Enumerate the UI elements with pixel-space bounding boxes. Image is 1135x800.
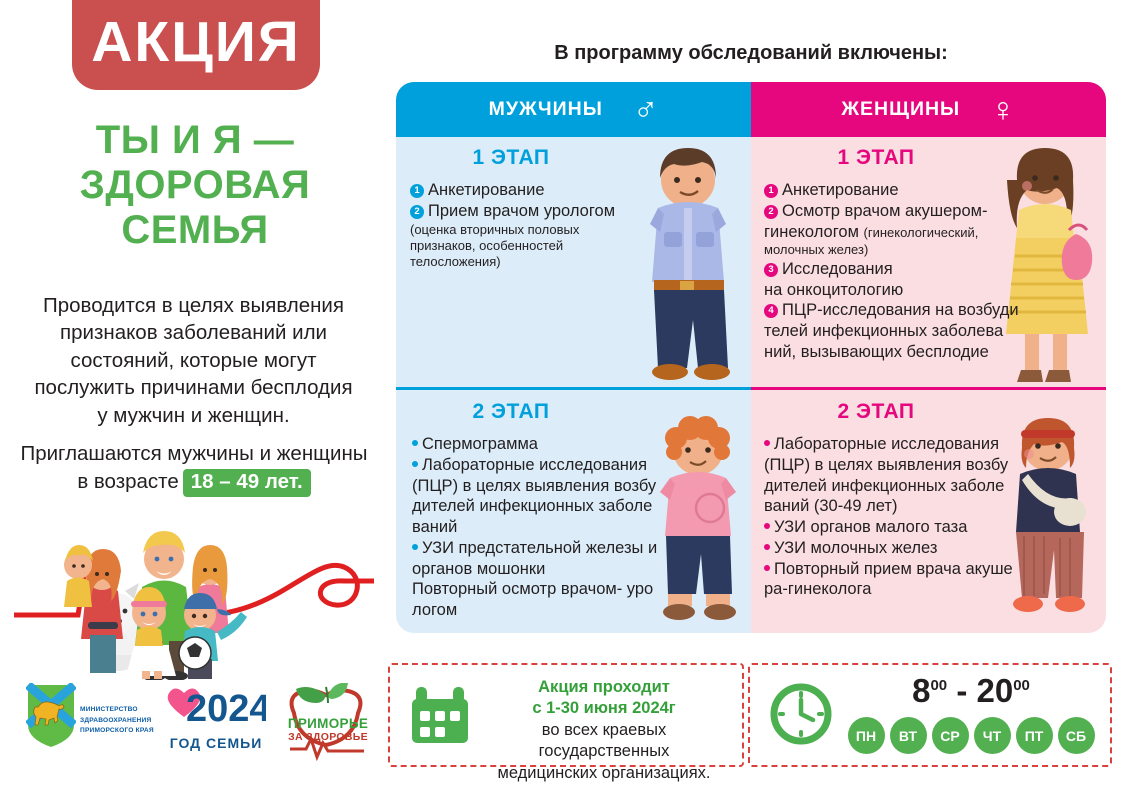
women-stage2-bullet-1: [764, 440, 770, 446]
woman-illustration: [991, 138, 1103, 388]
women-stage2-item-4: Повторный прием врача акуше: [764, 559, 1009, 580]
men-stage2-text-2c: дителей инфекционных заболе: [412, 496, 652, 517]
page-title-line-1: ТЫ И Я —: [10, 118, 380, 163]
women-stage2-bullet-3: [764, 544, 770, 550]
logo-row: МИНИСТЕРСТВО ЗДРАВООХРАНЕНИЯ ПРИМОРСКОГО…: [26, 683, 376, 765]
woman-stage2-illustration: [998, 408, 1102, 630]
year-of-family-logo: 2024 ГОД СЕМЬИ: [166, 683, 266, 765]
women-stage2-bullet-2: [764, 523, 770, 529]
women-stage1-cont-text: гинекологом: [764, 223, 859, 241]
female-symbol-icon: ♀: [990, 93, 1016, 127]
women-stage2-text-4a: Повторный прием врача акуше: [774, 560, 1013, 578]
boy-illustration: [648, 412, 752, 630]
women-stage1-item-2: 2Осмотр врачом акушером-: [764, 201, 1004, 222]
campaign-period-line-4: медицинских организациях.: [478, 763, 730, 784]
poster-root: АКЦИЯ ТЫ И Я — ЗДОРОВАЯ СЕМЬЯ Проводится…: [0, 0, 1135, 800]
men-stage2-bullet-1: [412, 440, 418, 446]
men-stage2-list: Спермограмма Лабораторные исследования (…: [412, 434, 652, 621]
women-header: ЖЕНЩИНЫ ♀: [751, 82, 1106, 137]
women-stage1-marker-4: 4: [764, 304, 778, 318]
day-badge-tue: ВТ: [890, 717, 927, 754]
women-stage1-item-3: 3Исследования: [764, 259, 1004, 280]
campaign-period-line-1: Акция проходит: [478, 677, 730, 698]
minzdrav-logo-text: МИНИСТЕРСТВО ЗДРАВООХРАНЕНИЯ ПРИМОРСКОГО…: [80, 705, 164, 737]
women-header-label: ЖЕНЩИНЫ: [841, 98, 960, 121]
women-stage2-list: Лабораторные исследования (ПЦР) в целях …: [764, 434, 1009, 600]
women-stage1-text-3a: Исследования: [782, 260, 893, 278]
men-stage1-note-1: (оценка вторичных половых: [410, 222, 640, 238]
men-header: МУЖЧИНЫ ♂: [396, 82, 751, 137]
invite-prefix: в возрасте: [77, 470, 178, 493]
close-hour: 20: [976, 672, 1013, 709]
women-stage1-text-4b: телей инфекционных заболева: [764, 321, 1004, 342]
men-stage1-text-2: Прием врачом урологом: [428, 202, 615, 220]
women-stage1-item-4: 4ПЦР-исследования на возбуди: [764, 300, 1004, 321]
women-stage2-text-1b: (ПЦР) в целях выявления возбу: [764, 455, 1009, 476]
men-stage2-text-4b: логом: [412, 600, 652, 621]
working-hours-range: 800 - 2000: [846, 673, 1096, 709]
women-stage1-text-4c: ний, вызывающих бесплодие: [764, 342, 1004, 363]
men-stage1-marker-1: 1: [410, 184, 424, 198]
men-stage1-note-2: признаков, особенностей: [410, 238, 640, 254]
day-badge-fri: ПТ: [1016, 717, 1053, 754]
year-caption: ГОД СЕМЬИ: [166, 735, 266, 751]
women-stage1-list: 1Анкетирование 2Осмотр врачом акушером- …: [764, 180, 1004, 363]
lead-line-4: послужить причинами бесплодия: [16, 374, 371, 401]
page-title: ТЫ И Я — ЗДОРОВАЯ СЕМЬЯ: [10, 118, 380, 252]
men-stage1-title: 1 ЭТАП: [396, 146, 626, 170]
men-header-label: МУЖЧИНЫ: [489, 98, 603, 121]
men-stage1-marker-2: 2: [410, 205, 424, 219]
lead-paragraph: Проводится в целях выявления признаков з…: [16, 292, 371, 429]
women-stage2-text-3: УЗИ молочных желез: [774, 539, 937, 557]
women-stage1-marker-2: 2: [764, 205, 778, 219]
women-stage1-cont-line: гинекологом (гинекологический,: [764, 222, 1004, 243]
men-stage2-text-4a: Повторный осмотр врачом- уро: [412, 579, 652, 600]
men-stage2-bullet-2: [412, 461, 418, 467]
minzdrav-line-2: ЗДРАВООХРАНЕНИЯ: [80, 716, 164, 727]
women-stage1-marker-3: 3: [764, 263, 778, 277]
panel-caption: В программу обследований включены:: [396, 42, 1106, 65]
men-stage2-item-3: УЗИ предстательной железы и: [412, 538, 652, 559]
lead-line-2: признаков заболеваний или: [16, 319, 371, 346]
men-stage1-note-3: телосложения): [410, 254, 640, 270]
invite-paragraph: Приглашаются мужчины и женщины в возраст…: [10, 440, 378, 497]
women-stage2-title: 2 ЭТАП: [751, 400, 1001, 424]
men-stage2-text-3a: УЗИ предстательной железы и: [422, 539, 657, 557]
women-stage2-item-1: Лабораторные исследования: [764, 434, 1009, 455]
man-illustration: [636, 140, 748, 388]
women-stage2-text-1a: Лабораторные исследования: [774, 435, 999, 453]
akciya-badge: АКЦИЯ: [72, 0, 320, 90]
minzdrav-line-3: ПРИМОРСКОГО КРАЯ: [80, 726, 164, 737]
men-stage-divider: [396, 387, 751, 390]
open-minutes: 00: [930, 677, 947, 694]
women-stage1-cont-note: (гинекологический,: [864, 225, 979, 240]
women-stage1-text-1: Анкетирование: [782, 181, 899, 199]
women-stage2-item-3: УЗИ молочных желез: [764, 538, 1009, 559]
women-stage2-item-2: УЗИ органов малого таза: [764, 517, 1009, 538]
women-stage2-bullet-4: [764, 565, 770, 571]
examination-program-panel: МУЖЧИНЫ ♂ ЖЕНЩИНЫ ♀: [396, 82, 1106, 633]
day-badge-mon: ПН: [848, 717, 885, 754]
women-stage1-item-1: 1Анкетирование: [764, 180, 1004, 201]
calendar-icon: [412, 685, 468, 743]
women-stage1-text-4a: ПЦР-исследования на возбуди: [782, 301, 1019, 319]
women-stage2-text-4b: ра-гинеколога: [764, 579, 1009, 600]
family-illustration: [14, 495, 374, 680]
women-stage-divider: [751, 387, 1106, 390]
year-number: 2024: [186, 688, 266, 730]
men-stage2-bullet-3: [412, 544, 418, 550]
male-symbol-icon: ♂: [633, 93, 659, 127]
heart-icon: 2024: [166, 683, 266, 735]
primorsky-krai-coat-of-arms: [26, 683, 76, 749]
primorye-line-2: ЗА ЗДОРОВЬЕ: [278, 731, 378, 743]
primorye-line-1: ПРИМОРЬЕ: [280, 716, 376, 731]
page-title-line-3: СЕМЬЯ: [10, 208, 380, 253]
page-title-line-2: ЗДОРОВАЯ: [10, 163, 380, 208]
women-stage1-marker-1: 1: [764, 184, 778, 198]
campaign-period-box: Акция проходит с 1-30 июня 2024г во всех…: [388, 663, 744, 767]
hours-dash: -: [956, 672, 967, 709]
close-minutes: 00: [1013, 677, 1030, 694]
day-badge-thu: ЧТ: [974, 717, 1011, 754]
women-stage2-text-2: УЗИ органов малого таза: [774, 518, 967, 536]
men-stage1-list: 1Анкетирование 2Прием врачом урологом (о…: [410, 180, 640, 271]
women-stage1-text-3b: на онкоцитологию: [764, 280, 1004, 301]
clock-icon: [770, 683, 832, 745]
women-stage2-text-1d: ваний (30-49 лет): [764, 496, 1009, 517]
left-column: АКЦИЯ ТЫ И Я — ЗДОРОВАЯ СЕМЬЯ Проводится…: [0, 0, 385, 800]
boy-with-ball: [179, 593, 247, 679]
men-stage2-text-3b: органов мошонки: [412, 559, 652, 580]
women-stage1-title: 1 ЭТАП: [751, 146, 1001, 170]
women-stage1-note-2: молочных желез): [764, 242, 1004, 258]
men-stage2-text-1: Спермограмма: [422, 435, 538, 453]
lead-line-5: у мужчин и женщин.: [16, 402, 371, 429]
men-stage2-text-2a: Лабораторные исследования: [422, 456, 647, 474]
lead-line-3: состояний, которые могут: [16, 347, 371, 374]
invite-line-2: в возрасте18 – 49 лет.: [10, 468, 378, 498]
primorye-health-logo: ПРИМОРЬЕ ЗА ЗДОРОВЬЕ: [272, 683, 382, 765]
open-hour: 8: [912, 672, 930, 709]
men-stage2-title: 2 ЭТАП: [396, 400, 626, 424]
campaign-period-line-3: во всех краевых государственных: [478, 720, 730, 763]
men-stage2-item-2: Лабораторные исследования: [412, 455, 652, 476]
men-stage2-text-2b: (ПЦР) в целях выявления возбу: [412, 476, 652, 497]
invite-line-1: Приглашаются мужчины и женщины: [10, 440, 378, 468]
minzdrav-logo: МИНИСТЕРСТВО ЗДРАВООХРАНЕНИЯ ПРИМОРСКОГО…: [26, 683, 162, 765]
day-badge-sat: СБ: [1058, 717, 1095, 754]
campaign-period-text: Акция проходит с 1-30 июня 2024г во всех…: [478, 677, 730, 784]
minzdrav-line-1: МИНИСТЕРСТВО: [80, 705, 164, 716]
men-stage1-item-2: 2Прием врачом урологом: [410, 201, 640, 222]
akciya-badge-label: АКЦИЯ: [91, 6, 301, 71]
campaign-period-line-2: с 1-30 июня 2024г: [478, 698, 730, 719]
women-stage1-text-2: Осмотр врачом акушером-: [782, 202, 987, 220]
men-stage2-text-2d: ваний: [412, 517, 652, 538]
day-badge-wed: СР: [932, 717, 969, 754]
men-stage1-text-1: Анкетирование: [428, 181, 545, 199]
working-hours-box: 800 - 2000 ПН ВТ СР ЧТ ПТ СБ: [748, 663, 1112, 767]
men-stage1-item-1: 1Анкетирование: [410, 180, 640, 201]
women-stage2-text-1c: дителей инфекционных заболе: [764, 476, 1009, 497]
men-stage2-item-1: Спермограмма: [412, 434, 652, 455]
age-range-chip: 18 – 49 лет.: [183, 469, 311, 498]
working-days-list: ПН ВТ СР ЧТ ПТ СБ: [840, 717, 1102, 754]
lead-line-1: Проводится в целях выявления: [16, 292, 371, 319]
